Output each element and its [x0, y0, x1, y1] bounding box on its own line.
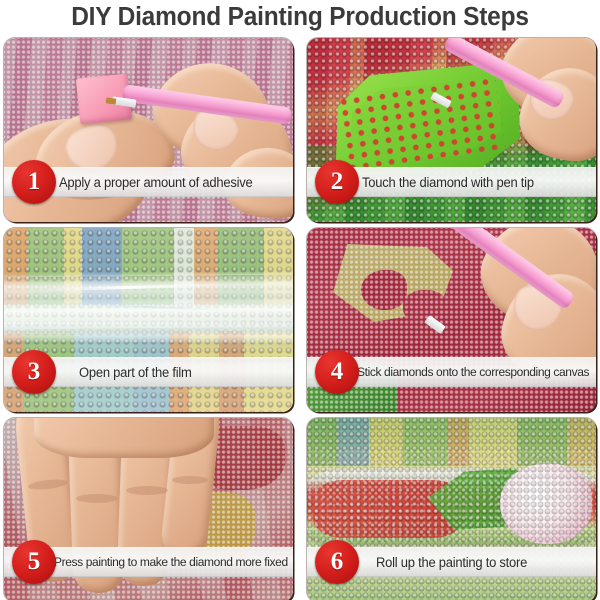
step-caption-text-4: Stick diamonds onto the corresponding ca… [357, 365, 589, 379]
step-panel-5[interactable]: Press painting to make the diamond more … [4, 418, 293, 600]
step-number-3: 3 [28, 359, 41, 384]
step-number-2: 2 [331, 169, 344, 194]
step-badge-6: 6 [315, 540, 359, 584]
step-caption-text-5: Press painting to make the diamond more … [54, 555, 288, 569]
step-badge-1: 1 [12, 160, 56, 204]
step-badge-5: 5 [12, 540, 56, 584]
step-panel-6[interactable]: Roll up the painting to store 6 [307, 418, 596, 600]
steps-grid: Apply a proper amount of adhesive 1 [4, 38, 596, 598]
step-caption-text-1: Apply a proper amount of adhesive [59, 175, 252, 190]
infographic-root: DIY Diamond Painting Production Steps [0, 0, 600, 600]
step-panel-1[interactable]: Apply a proper amount of adhesive 1 [4, 38, 293, 222]
step-number-4: 4 [331, 359, 344, 384]
step-badge-4: 4 [315, 350, 359, 394]
step-caption-text-2: Touch the diamond with pen tip [362, 175, 534, 190]
step-panel-2[interactable]: Touch the diamond with pen tip 2 [307, 38, 596, 222]
step-number-1: 1 [28, 169, 41, 194]
step-number-6: 6 [331, 549, 344, 574]
step-panel-4[interactable]: Stick diamonds onto the corresponding ca… [307, 228, 596, 412]
step-panel-3[interactable]: Open part of the film 3 [4, 228, 293, 412]
step-badge-3: 3 [12, 350, 56, 394]
step-caption-text-6: Roll up the painting to store [376, 555, 527, 570]
step-caption-text-3: Open part of the film [79, 365, 192, 380]
step-badge-2: 2 [315, 160, 359, 204]
page-title: DIY Diamond Painting Production Steps [12, 0, 588, 36]
step-number-5: 5 [28, 549, 41, 574]
